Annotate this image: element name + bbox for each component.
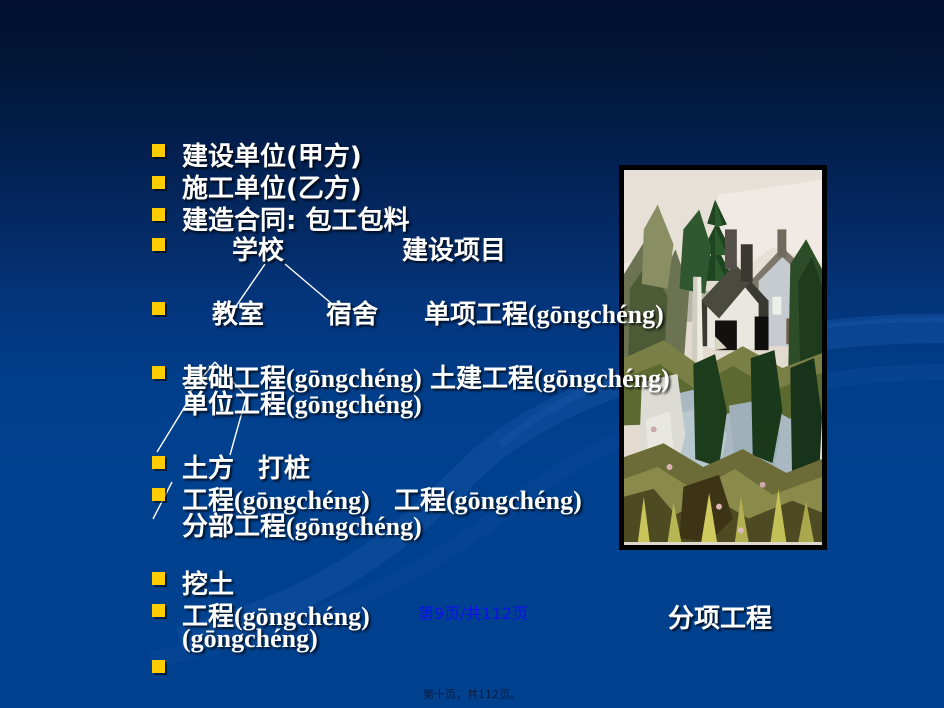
slide-footer: 第十页，共112页。: [0, 686, 944, 702]
bullet-marker: [152, 660, 165, 673]
bullet-marker: [152, 208, 165, 221]
text-gongcheng-pinyin: (gōngchéng): [182, 624, 318, 654]
bullet-marker: [152, 488, 165, 501]
text-dormitory: 宿舍: [326, 294, 378, 331]
text-contract: 建造合同: 包工包料: [182, 200, 409, 237]
text-construction-project: 建设项目: [402, 230, 506, 267]
bullet-marker: [152, 144, 165, 157]
text-classroom: 教室: [212, 294, 264, 331]
text-school: 学校: [232, 230, 284, 267]
text-civil-project: 土建工程(gōngchéng): [430, 358, 670, 395]
page-watermark: 第9页/共112页: [418, 600, 528, 624]
slide-content: 建设单位(甲方) 施工单位(乙方) 建造合同: 包工包料 学校 建设项目 教室 …: [0, 0, 944, 708]
text-sub-item-project: 分项工程: [668, 598, 772, 635]
bullet-marker: [152, 366, 165, 379]
bullet-marker: [152, 238, 165, 251]
bullet-marker: [152, 604, 165, 617]
bullet-marker: [152, 572, 165, 585]
text-unit-project: 单位工程(gōngchéng): [182, 384, 422, 421]
text-sub-division-project: 分部工程(gōngchéng): [182, 506, 422, 543]
text-project-right: 工程(gōngchéng): [394, 480, 582, 517]
text-single-item-project: 单项工程(gōngchéng): [424, 294, 664, 331]
bullet-marker: [152, 176, 165, 189]
bullet-marker: [152, 302, 165, 315]
presentation-slide: 建设单位(甲方) 施工单位(乙方) 建造合同: 包工包料 学校 建设项目 教室 …: [0, 0, 944, 708]
bullet-marker: [152, 456, 165, 469]
